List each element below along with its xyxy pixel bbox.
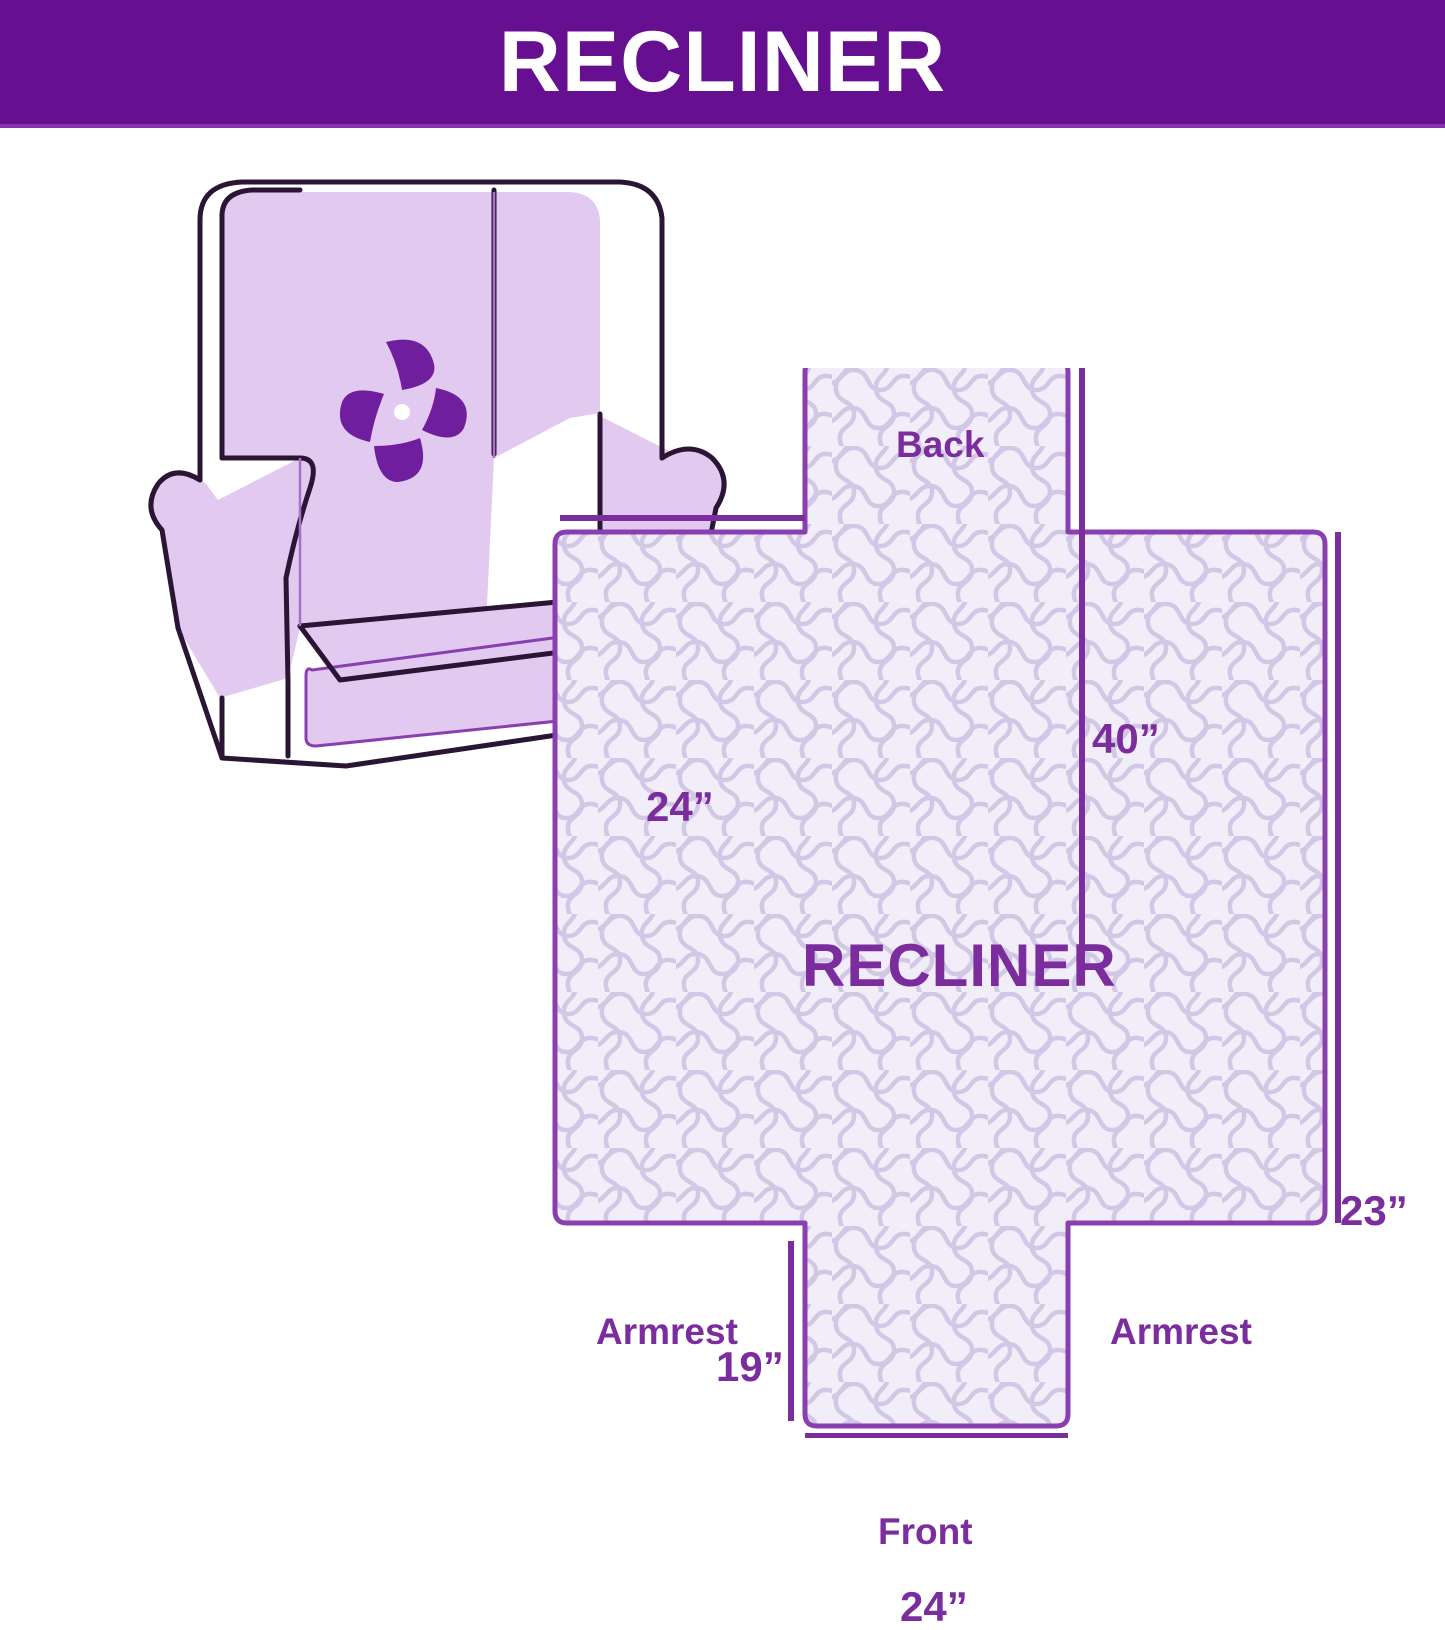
panel-label-front: Front [878, 1513, 973, 1550]
dimension-label-back-width: 24” [646, 786, 714, 828]
panel-label-armrest-right: Armrest [1110, 1313, 1252, 1350]
content-area: Back RECLINER Armrest Armrest Front 40” … [0, 128, 1445, 1445]
header-banner: RECLINER [0, 0, 1445, 128]
panel-label-back: Back [896, 426, 984, 463]
cover-cross-shape [555, 368, 1325, 1426]
dimension-label-front-width: 24” [900, 1586, 968, 1628]
panel-label-center-recliner: RECLINER [802, 936, 1117, 996]
dimension-label-front-height: 19” [716, 1346, 784, 1388]
dimension-label-back-height: 40” [1092, 718, 1160, 760]
slipcover-pattern-diagram [520, 368, 1420, 1438]
dimension-label-armrest-depth: 23” [1340, 1190, 1408, 1232]
page-title: RECLINER [499, 19, 947, 105]
